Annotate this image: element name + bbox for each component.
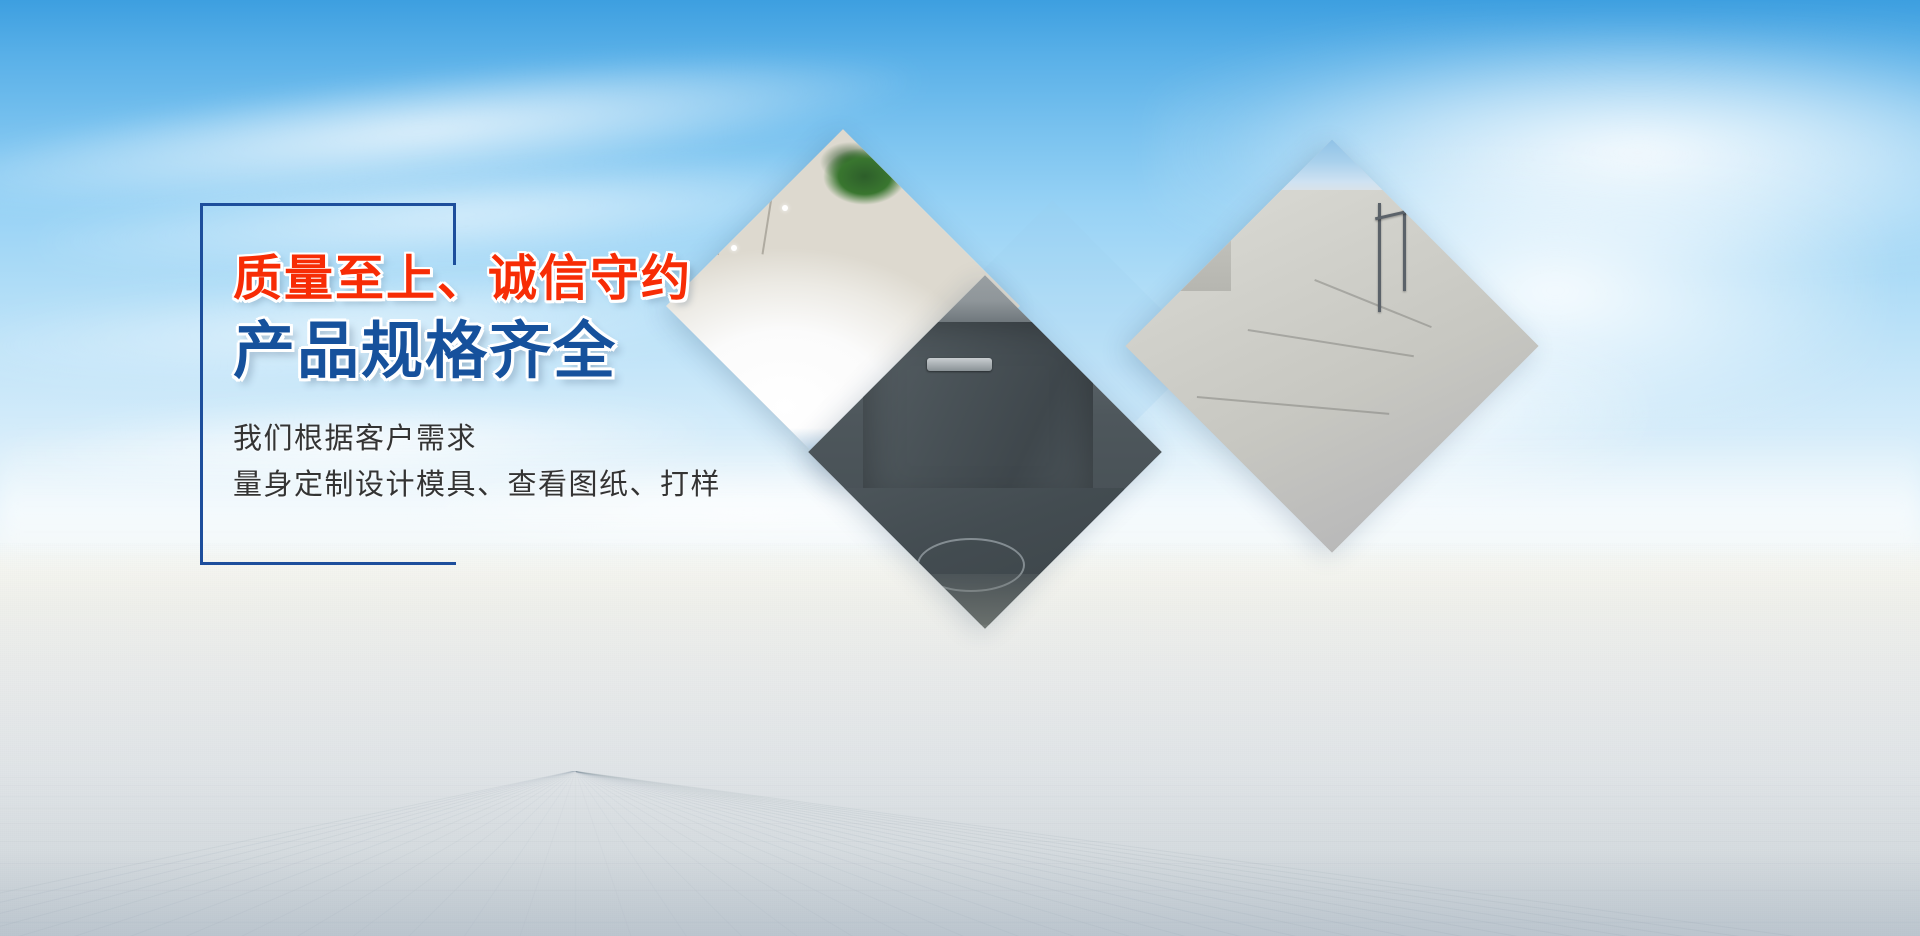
frame-top-border [200, 203, 456, 206]
ground-shadow [0, 850, 1920, 936]
subtitle-block: 我们根据客户需求 量身定制设计模具、查看图纸、打样 [233, 417, 721, 509]
subtitle-line-2: 量身定制设计模具、查看图纸、打样 [233, 463, 721, 509]
frame-bottom-border [200, 562, 456, 565]
headline-secondary: 产品规格齐全 [233, 321, 721, 383]
subtitle-line-1: 我们根据客户需求 [233, 417, 721, 463]
promo-banner: 质量至上、诚信守约 产品规格齐全 我们根据客户需求 量身定制设计模具、查看图纸、… [0, 0, 1920, 936]
frame-left-border [200, 203, 203, 565]
banner-copy: 质量至上、诚信守约 产品规格齐全 我们根据客户需求 量身定制设计模具、查看图纸、… [233, 255, 721, 509]
headline-primary: 质量至上、诚信守约 [233, 255, 721, 304]
